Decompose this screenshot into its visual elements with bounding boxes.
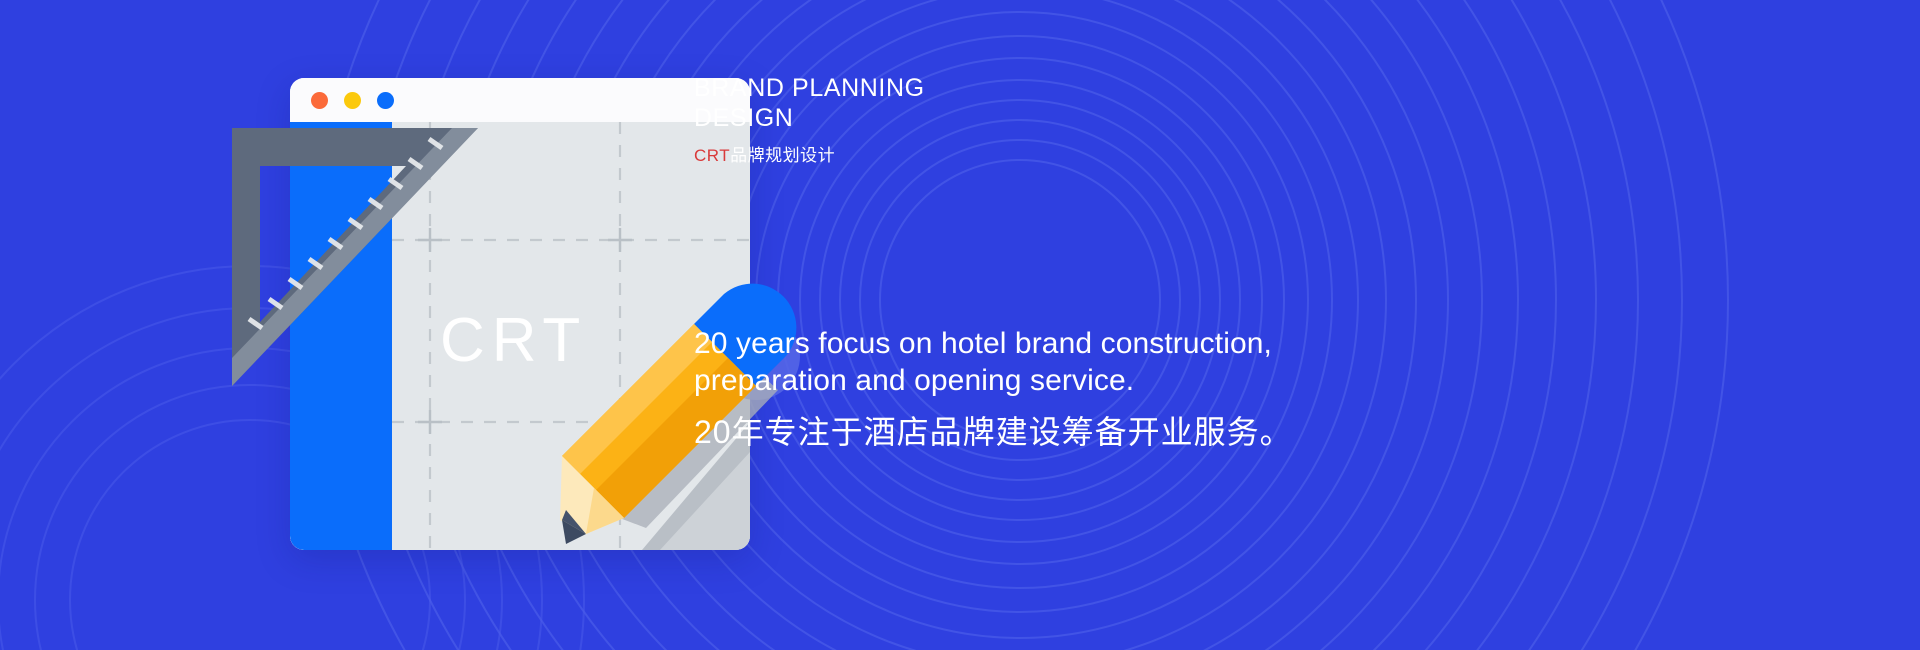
- subtitle: CRT品牌规划设计: [694, 141, 925, 166]
- text-content-column: BRAND PLANNING DESIGN CRT品牌规划设计 20 years…: [694, 0, 1874, 650]
- close-dot-icon[interactable]: [311, 92, 328, 109]
- triangle-ruler-icon: [230, 126, 480, 388]
- minimize-dot-icon[interactable]: [344, 92, 361, 109]
- tagline-block: 20 years focus on hotel brand constructi…: [694, 325, 1394, 452]
- browser-titlebar: [290, 78, 750, 122]
- subtitle-chinese: 品牌规划设计: [730, 146, 835, 165]
- tagline-english: 20 years focus on hotel brand constructi…: [694, 325, 1394, 399]
- page-title: BRAND PLANNING DESIGN: [694, 73, 925, 133]
- brand-name: CRT: [694, 146, 730, 165]
- tagline-chinese: 20年专注于酒店品牌建设筹备开业服务。: [694, 412, 1394, 452]
- maximize-dot-icon[interactable]: [377, 92, 394, 109]
- brand-banner: CRT: [0, 0, 1920, 650]
- title-block: BRAND PLANNING DESIGN CRT品牌规划设计: [694, 73, 925, 166]
